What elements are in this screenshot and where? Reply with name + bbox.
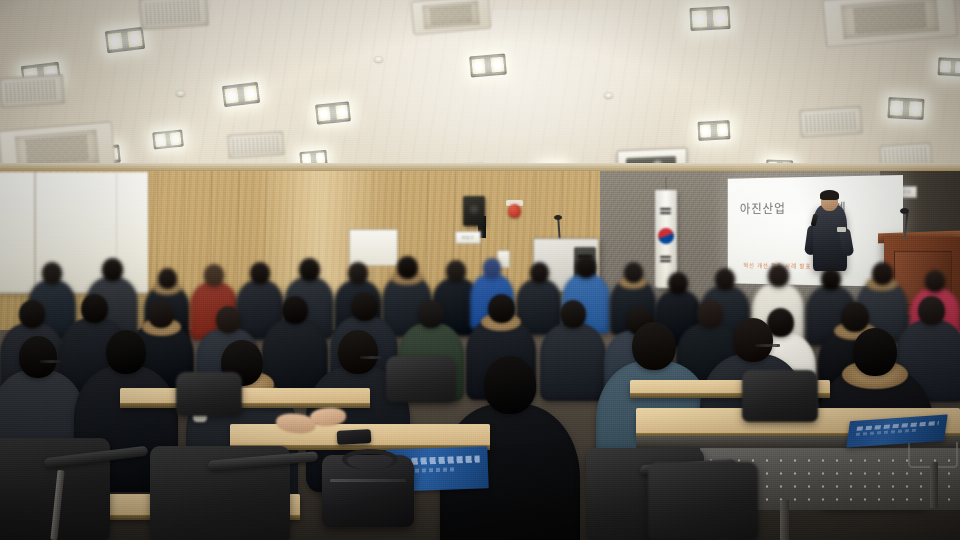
audience-head bbox=[925, 270, 945, 292]
audience-head bbox=[872, 262, 893, 285]
chair-mid-left[interactable] bbox=[176, 372, 242, 416]
presenter-hair bbox=[820, 190, 839, 200]
booklet-text-lines-2 bbox=[856, 429, 917, 436]
ceiling-downlight-15 bbox=[938, 57, 960, 77]
ceiling-downlight-0 bbox=[105, 27, 145, 53]
ceiling-vent-0 bbox=[139, 0, 209, 30]
wall-ceiling-trim bbox=[0, 163, 960, 171]
vent-grill bbox=[233, 136, 279, 155]
vent-grill bbox=[146, 0, 203, 25]
podium-microphone bbox=[900, 208, 909, 214]
audience-head bbox=[106, 330, 146, 374]
ceiling-downlight-5 bbox=[152, 129, 184, 149]
desk-leg-mid bbox=[780, 500, 789, 540]
smoke-detector-1 bbox=[176, 90, 185, 96]
audience-head bbox=[576, 256, 596, 278]
audience-head bbox=[853, 328, 897, 376]
ceiling-downlight-8 bbox=[469, 53, 507, 77]
audience-head bbox=[446, 260, 466, 282]
desk-leg-right bbox=[930, 462, 938, 508]
audience-head bbox=[397, 256, 418, 279]
eyeglasses bbox=[755, 344, 780, 347]
audience-head bbox=[632, 322, 676, 370]
smoke-detector-2 bbox=[604, 92, 613, 98]
vent-grill bbox=[805, 111, 857, 133]
audience-head bbox=[821, 268, 841, 290]
audience-head bbox=[42, 262, 62, 284]
presenter-name-badge bbox=[837, 227, 846, 232]
audience-head bbox=[918, 296, 945, 325]
vent-grill bbox=[5, 79, 58, 103]
bag-handle bbox=[342, 449, 398, 470]
audience-head bbox=[715, 268, 735, 290]
desk-row-mid-left bbox=[120, 388, 370, 408]
laptop-bag bbox=[322, 455, 414, 527]
ac-mesh bbox=[429, 4, 473, 26]
slide-title-left: 아진산업 bbox=[740, 199, 786, 217]
audience-head bbox=[348, 262, 368, 284]
eyeglasses bbox=[40, 360, 64, 363]
ceiling-downlight-3 bbox=[315, 101, 351, 124]
chair-mid-center[interactable] bbox=[386, 356, 456, 402]
smartphone bbox=[337, 429, 372, 445]
audience-head bbox=[488, 294, 515, 323]
chair-mid-right[interactable] bbox=[742, 370, 818, 422]
ceiling-vent-4 bbox=[799, 106, 863, 138]
audience-head bbox=[19, 336, 57, 378]
ceiling-downlight-1 bbox=[222, 82, 260, 107]
audience-head bbox=[338, 330, 378, 374]
ceiling-downlight-13 bbox=[887, 97, 924, 120]
smoke-detector-0 bbox=[374, 56, 383, 62]
audience-head bbox=[624, 262, 643, 283]
audience-head bbox=[484, 356, 536, 414]
ceiling-downlight-10 bbox=[689, 6, 730, 31]
audience-head bbox=[530, 262, 549, 283]
audience-head bbox=[102, 258, 123, 281]
audience-head bbox=[418, 300, 444, 328]
audience-head bbox=[204, 264, 224, 286]
wall-sign-exit: 비상구 bbox=[455, 231, 481, 244]
chair-far-right[interactable] bbox=[648, 462, 758, 540]
ceiling-downlight-11 bbox=[698, 120, 731, 141]
fire-alarm-bell bbox=[508, 204, 521, 218]
audience-head bbox=[81, 294, 108, 323]
ceiling-vent-2 bbox=[227, 131, 285, 159]
ceiling-vent-1 bbox=[0, 74, 65, 108]
wall-sign-exit-label: 비상구 bbox=[462, 235, 475, 241]
eyeglasses bbox=[360, 356, 385, 359]
audience-head bbox=[158, 268, 177, 289]
speaker-cone-icon bbox=[468, 203, 480, 215]
audience-head bbox=[733, 318, 773, 362]
booklet-text-lines bbox=[856, 421, 939, 431]
audience-head bbox=[282, 296, 308, 324]
audience-head bbox=[148, 300, 174, 328]
audience-head bbox=[250, 262, 270, 284]
audience-head bbox=[483, 258, 501, 278]
audience-head bbox=[19, 300, 45, 328]
audience-head bbox=[668, 272, 688, 294]
ac-mesh bbox=[25, 134, 90, 165]
bag-zipper bbox=[330, 479, 406, 482]
audience-head bbox=[768, 264, 789, 287]
wall-speaker bbox=[463, 196, 485, 226]
audience-head bbox=[299, 258, 320, 281]
audience-head bbox=[560, 300, 586, 328]
lecture-hall-photo: 비상구 강의실 아진산업 사례 혁신 개선 활동 사례 발표 bbox=[0, 0, 960, 540]
cart-microphone bbox=[554, 215, 562, 220]
audience-head bbox=[351, 292, 378, 321]
audience-head bbox=[216, 306, 241, 333]
